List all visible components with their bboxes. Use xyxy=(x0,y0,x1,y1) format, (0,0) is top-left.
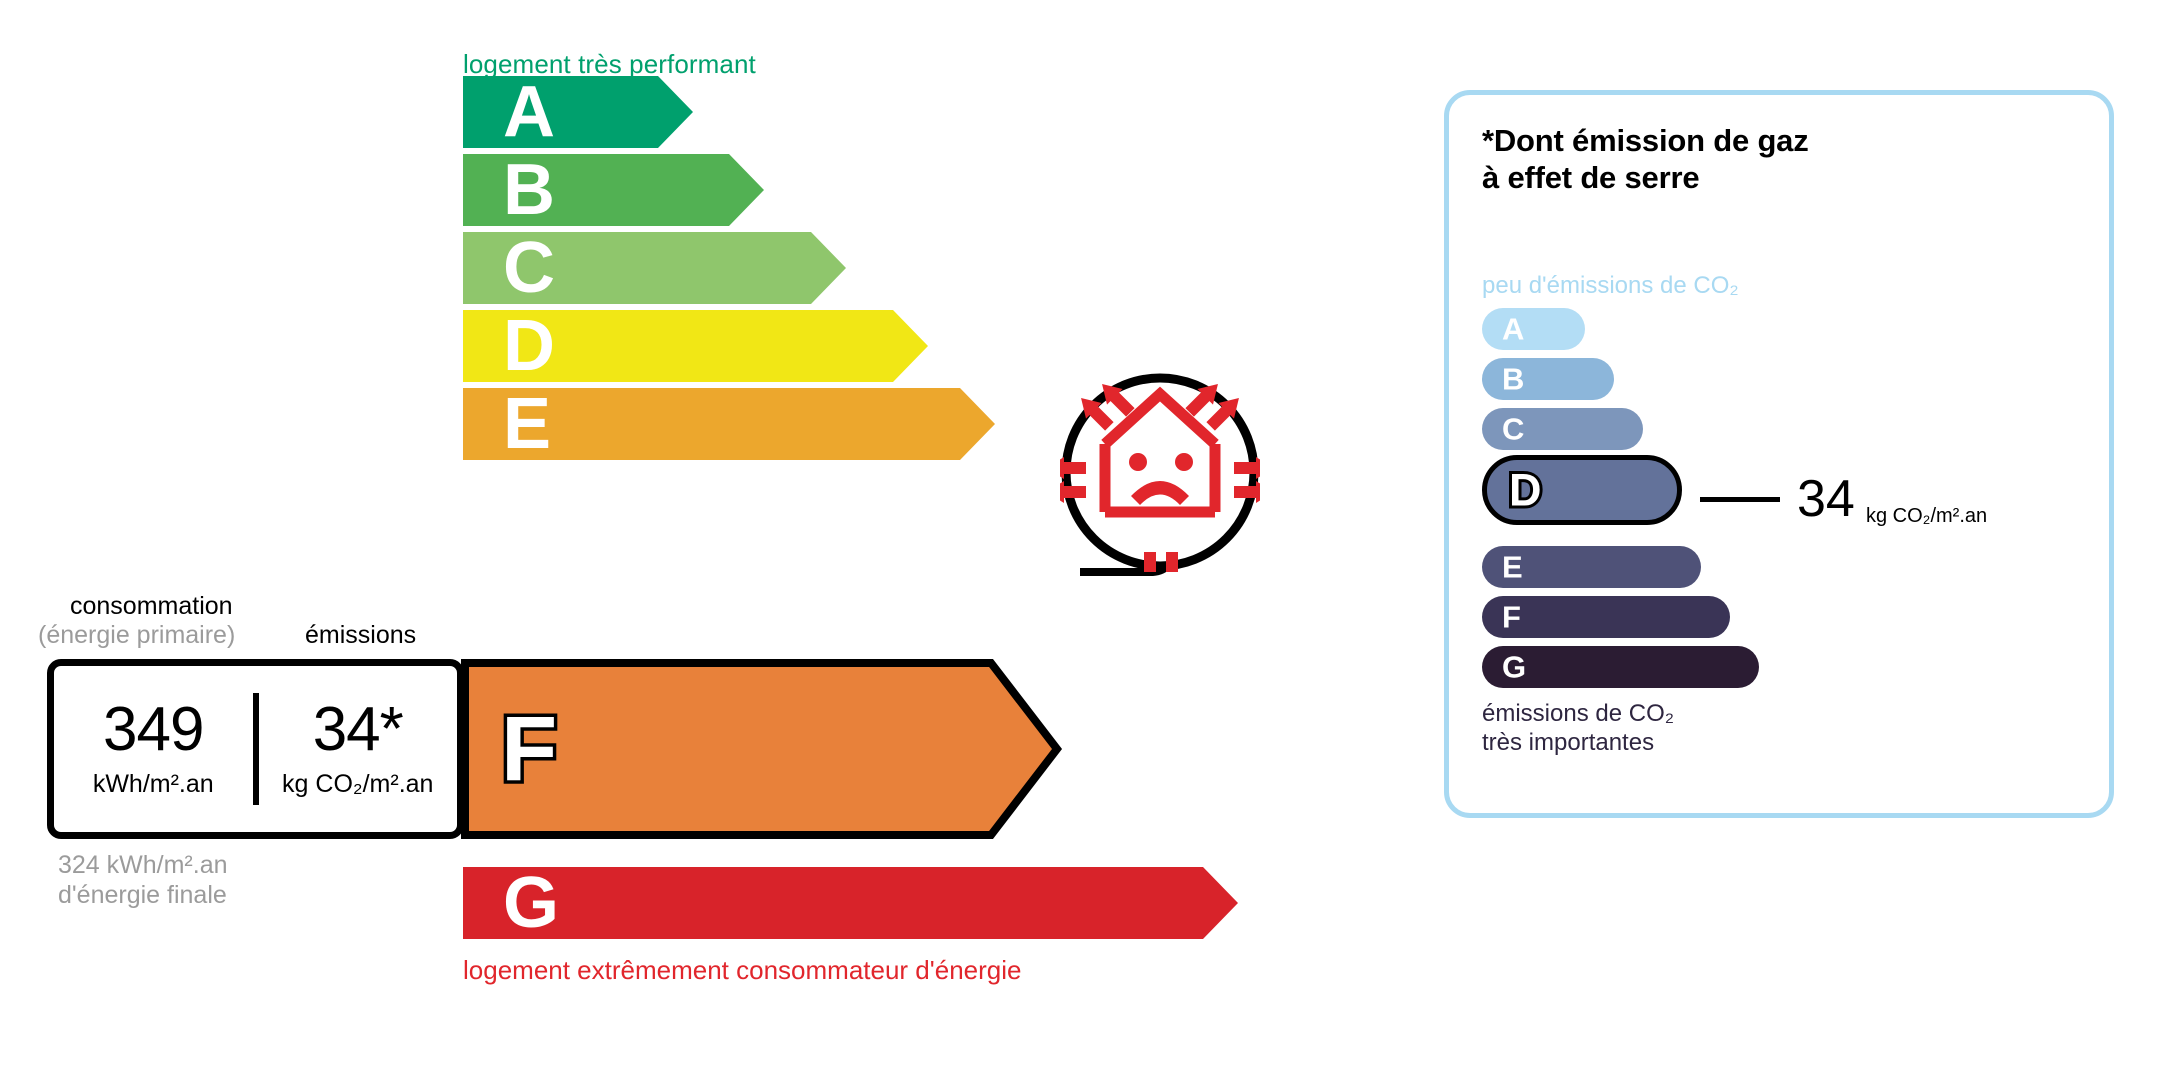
ghg-title-line1: *Dont émission de gaz xyxy=(1482,123,1809,160)
ghg-class-bar-b[interactable]: B xyxy=(1482,358,1614,400)
energy-unit: kWh/m².an xyxy=(54,770,253,799)
label-consommation: consommation xyxy=(70,592,233,621)
ghg-value-unit: kg CO₂/m².an xyxy=(1866,505,1987,528)
energy-class-letter-c: C xyxy=(503,232,555,304)
ghg-bottom-line2: très importantes xyxy=(1482,729,1674,758)
energy-class-letter-a: A xyxy=(503,76,555,148)
ghg-panel-title: *Dont émission de gaz à effet de serre xyxy=(1482,123,1809,196)
ghg-top-caption: peu d'émissions de CO₂ xyxy=(1482,272,1739,300)
ghg-class-bar-f[interactable]: F xyxy=(1482,596,1730,638)
energy-class-bar-a[interactable]: A xyxy=(463,76,693,148)
ghg-class-letter-f: F xyxy=(1502,602,1521,633)
ghg-class-bar-g[interactable]: G xyxy=(1482,646,1759,688)
energy-value-cell: 349 kWh/m².an xyxy=(54,699,253,799)
energy-class-letter-e: E xyxy=(503,388,551,460)
ghg-class-bar-e[interactable]: E xyxy=(1482,546,1701,588)
energy-class-letter-b: B xyxy=(503,154,555,226)
ghg-class-letter-b: B xyxy=(1502,364,1524,395)
ghg-class-bar-c[interactable]: C xyxy=(1482,408,1643,450)
ghg-class-letter-c: C xyxy=(1502,414,1524,445)
energy-class-bar-c[interactable]: C xyxy=(463,232,846,304)
ghg-class-letter-d: D xyxy=(1509,468,1542,513)
scale-bottom-caption: logement extrêmement consommateur d'éner… xyxy=(463,955,1021,986)
energy-class-bar-d[interactable]: D xyxy=(463,310,928,382)
final-energy-line1: 324 kWh/m².an xyxy=(58,851,228,881)
ghg-bottom-caption: émissions de CO₂ très importantes xyxy=(1482,700,1674,758)
final-energy-note: 324 kWh/m².an d'énergie finale xyxy=(58,851,228,910)
energy-class-bar-e[interactable]: E xyxy=(463,388,995,460)
energy-class-letter-f: F xyxy=(501,703,557,795)
ghg-class-letter-a: A xyxy=(1502,314,1524,345)
dpe-label: logement très performant A B C D E F G l… xyxy=(0,0,2169,1079)
label-energie-primaire: (énergie primaire) xyxy=(38,621,235,650)
ghg-value-leader-line xyxy=(1700,497,1780,502)
ghg-class-bar-d-selected[interactable]: D xyxy=(1482,455,1682,525)
final-energy-line2: d'énergie finale xyxy=(58,881,228,911)
co2-value-cell: 34* kg CO₂/m².an xyxy=(259,699,458,799)
ghg-class-letter-e: E xyxy=(1502,552,1523,583)
energy-class-bar-f-selected[interactable]: F xyxy=(461,659,1061,839)
energy-class-letter-d: D xyxy=(503,310,555,382)
sad-house-heat-loss-icon xyxy=(1060,372,1260,572)
ghg-title-line2: à effet de serre xyxy=(1482,160,1809,197)
co2-value: 34* xyxy=(259,699,458,761)
label-emissions: émissions xyxy=(305,621,416,650)
consumption-value-card: 349 kWh/m².an 34* kg CO₂/m².an xyxy=(47,659,464,839)
ghg-class-bar-a[interactable]: A xyxy=(1482,308,1585,350)
energy-class-bar-g[interactable]: G xyxy=(463,867,1238,939)
co2-unit: kg CO₂/m².an xyxy=(259,770,458,799)
ghg-value: 34 xyxy=(1797,473,1855,525)
energy-class-bar-b[interactable]: B xyxy=(463,154,764,226)
ghg-class-letter-g: G xyxy=(1502,652,1526,683)
energy-value: 349 xyxy=(54,699,253,761)
energy-class-letter-g: G xyxy=(503,867,559,939)
ghg-bottom-line1: émissions de CO₂ xyxy=(1482,700,1674,729)
